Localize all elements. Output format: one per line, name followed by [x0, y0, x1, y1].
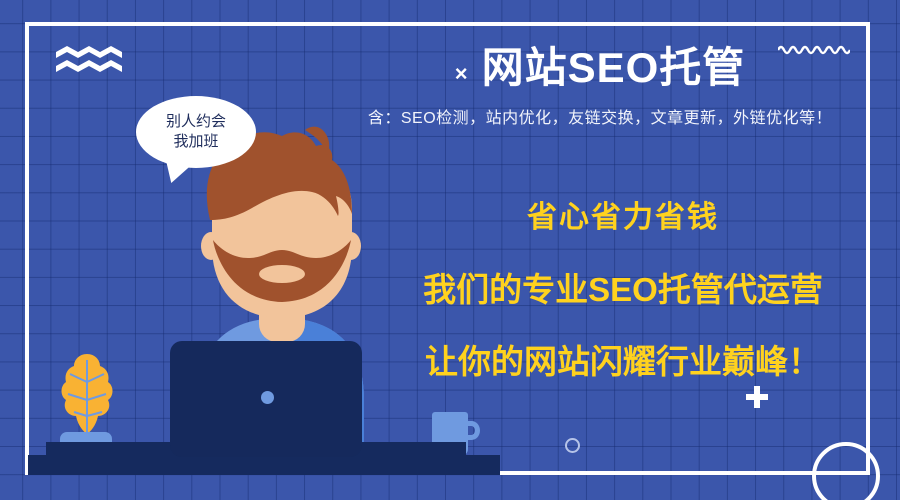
- speech-bubble: 别人约会 我加班: [136, 96, 256, 168]
- laptop-logo-dot: [261, 391, 274, 404]
- speech-bubble-line-2: 我加班: [173, 132, 218, 152]
- speech-bubble-line-1: 别人约会: [166, 112, 226, 132]
- seo-hosting-banner: × 网站SEO托管 含：SEO检测，站内优化，友链交换，文章更新，外链优化等！ …: [0, 0, 900, 500]
- desk-surface: [28, 455, 500, 475]
- potted-plant-illustration: [56, 352, 118, 442]
